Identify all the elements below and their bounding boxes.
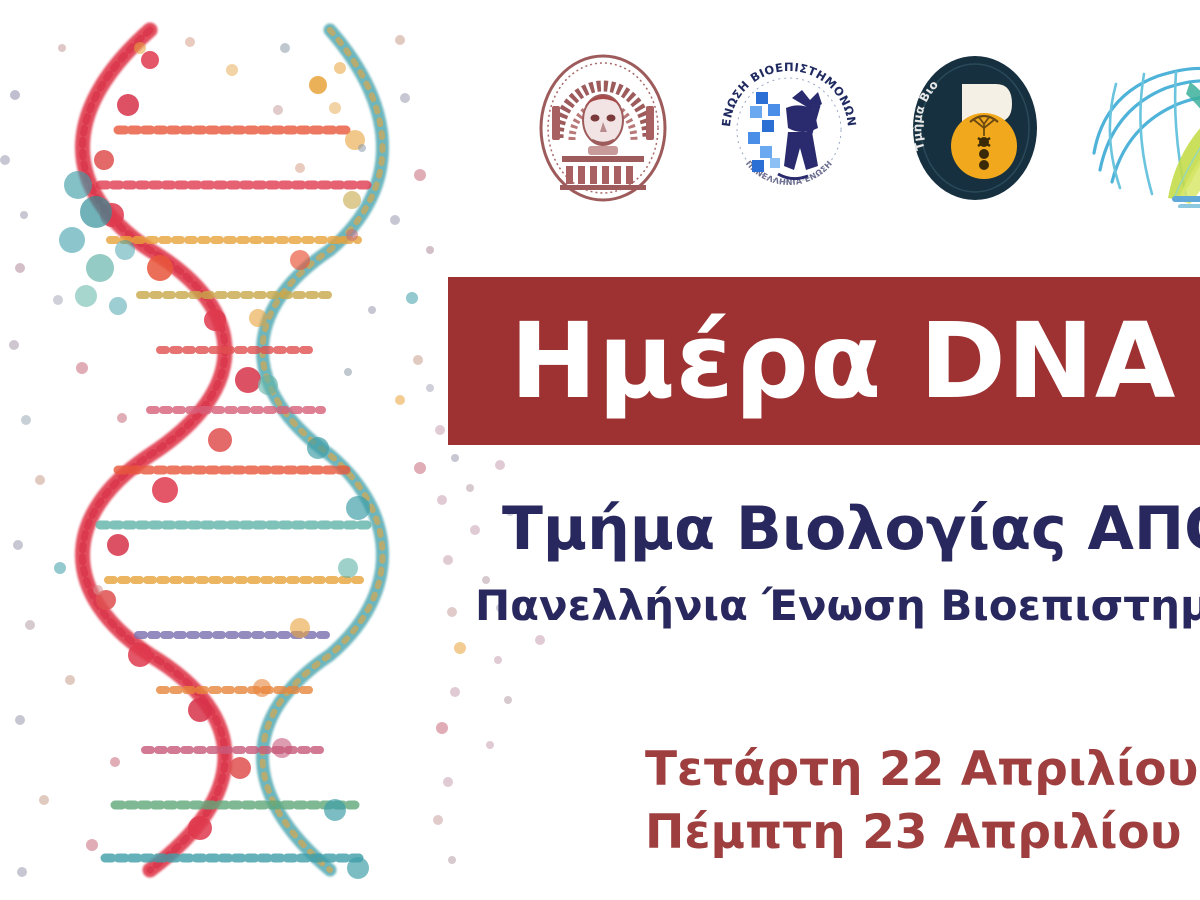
peb-bioscientists-logo: ΕΝΩΣΗ ΒΙΟΕΠΙΣΤΗΜΟΝΩΝ ΠΑΝΕΛΛΗΝΙΑ ΕΝΩΣΗ	[714, 48, 864, 208]
biology-department-logo: Τμήμα Βιολογίας	[900, 48, 1050, 208]
logo-row: ΕΝΩΣΗ ΒΙΟΕΠΙΣΤΗΜΟΝΩΝ ΠΑΝΕΛΛΗΝΙΑ ΕΝΩΣΗ	[528, 48, 1200, 208]
page-title: Ημέρα DNA	[510, 309, 1176, 413]
globe-leaves-logo	[1086, 48, 1200, 208]
subtitle-department: Τμήμα Βιολογίας ΑΠΘ	[502, 498, 1200, 561]
poster-root: ΕΝΩΣΗ ΒΙΟΕΠΙΣΤΗΜΟΝΩΝ ΠΑΝΕΛΛΗΝΙΑ ΕΝΩΣΗ	[0, 0, 1200, 900]
auth-seal-logo	[528, 48, 678, 208]
date-line-1: Τετάρτη 22 Απριλίου 202	[645, 738, 1200, 801]
title-banner: Ημέρα DNA	[448, 277, 1200, 445]
event-dates: Τετάρτη 22 Απριλίου 202 Πέμπτη 23 Απριλί…	[645, 738, 1200, 865]
dna-double-helix-artwork	[0, 0, 470, 900]
date-line-2: Πέμπτη 23 Απριλίου 202	[645, 801, 1200, 864]
subtitle-organization: Πανελλήνια Ένωση Βιοεπιστημόνων	[475, 584, 1200, 628]
